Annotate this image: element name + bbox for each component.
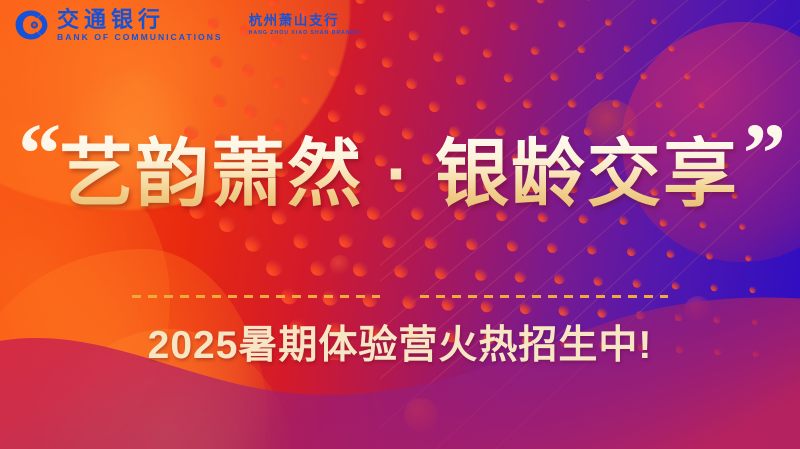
quote-close-mark: ” xyxy=(743,110,782,196)
quote-open-mark: “ xyxy=(18,110,57,196)
bank-of-communications-logo-icon xyxy=(14,9,48,41)
branch-block: 杭州萧山支行 HANG ZHOU XIAO SHAN BRANCH xyxy=(240,14,361,36)
soft-circle-3 xyxy=(330,255,350,275)
logo-wordmark: 交通银行 BANK OF COMMUNICATIONS xyxy=(57,9,223,42)
soft-circle-1 xyxy=(404,398,438,432)
branch-name-cn: 杭州萧山支行 xyxy=(249,14,361,28)
promo-banner: 交通银行 BANK OF COMMUNICATIONS 杭州萧山支行 HANG … xyxy=(0,0,800,449)
divider-gap xyxy=(380,295,420,298)
bank-name-en: BANK OF COMMUNICATIONS xyxy=(57,33,223,42)
logo-bar: 交通银行 BANK OF COMMUNICATIONS 杭州萧山支行 HANG … xyxy=(14,9,360,42)
branch-name-en: HANG ZHOU XIAO SHAN BRANCH xyxy=(249,31,361,36)
bank-name-cn: 交通银行 xyxy=(57,9,223,31)
soft-circle-4 xyxy=(684,296,712,324)
page-subtitle: 2025暑期体验营火热招生中! xyxy=(0,322,800,371)
headline-row: “ 艺韵萧然 · 银龄交享 ” xyxy=(0,118,800,230)
page-title: 艺韵萧然 · 银龄交享 xyxy=(59,135,739,213)
divider-segment-right xyxy=(420,295,668,298)
divider-segment-left xyxy=(132,295,380,298)
dashed-divider xyxy=(132,295,668,298)
